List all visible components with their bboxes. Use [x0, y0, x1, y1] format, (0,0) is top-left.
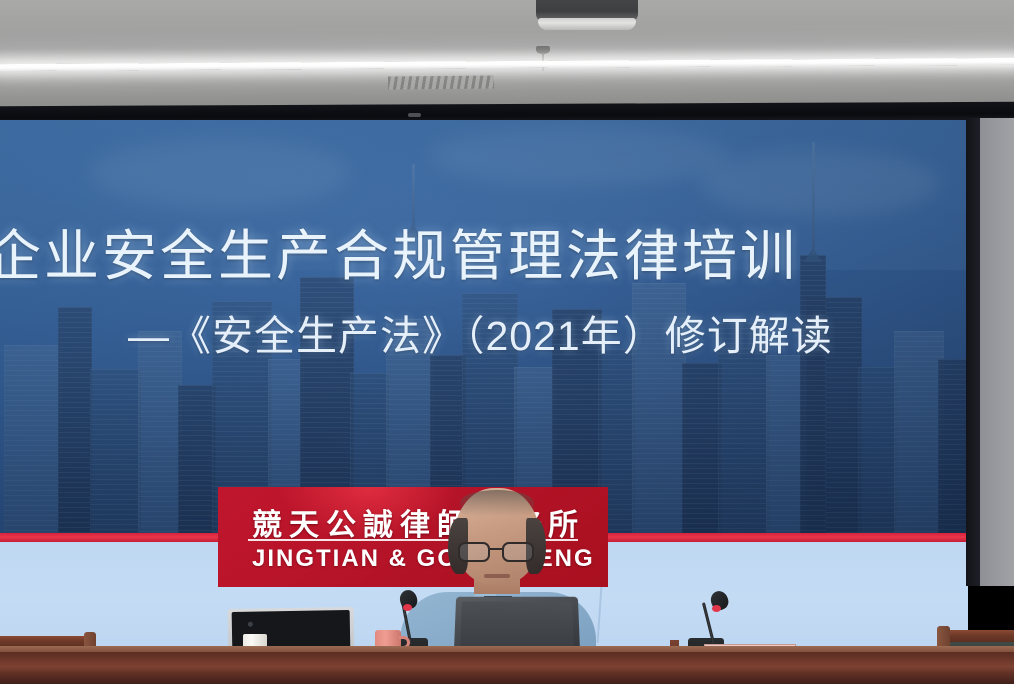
side-wall	[980, 118, 1014, 586]
screen-bezel-right	[966, 118, 980, 586]
projector-lens	[538, 18, 636, 30]
glasses-lens-right-icon	[502, 542, 534, 562]
slide-subtitle: —《安全生产法》（2021年）修订解读	[128, 315, 1008, 358]
conference-room-scene: 企业安全生产合规管理法律培训 —《安全生产法》（2021年）修订解读 競天公誠律…	[0, 0, 1014, 684]
presenter-hair-top	[460, 490, 534, 516]
laptop-left-camera-icon	[248, 622, 253, 627]
glasses-lens-left-icon	[458, 542, 490, 562]
laptop-presenter-lid	[460, 602, 574, 652]
conference-table	[0, 652, 1014, 684]
presenter-mouth	[484, 574, 510, 578]
screen-sensor-icon	[408, 113, 421, 117]
slide-title: 企业安全生产合规管理法律培训	[0, 228, 886, 286]
ceiling-air-vent	[388, 75, 494, 89]
glasses-bridge	[490, 548, 502, 550]
law-firm-banner: 競天公誠律師事務所 JINGTIAN & GONGCHENG	[218, 487, 608, 587]
ceiling	[0, 0, 1014, 108]
